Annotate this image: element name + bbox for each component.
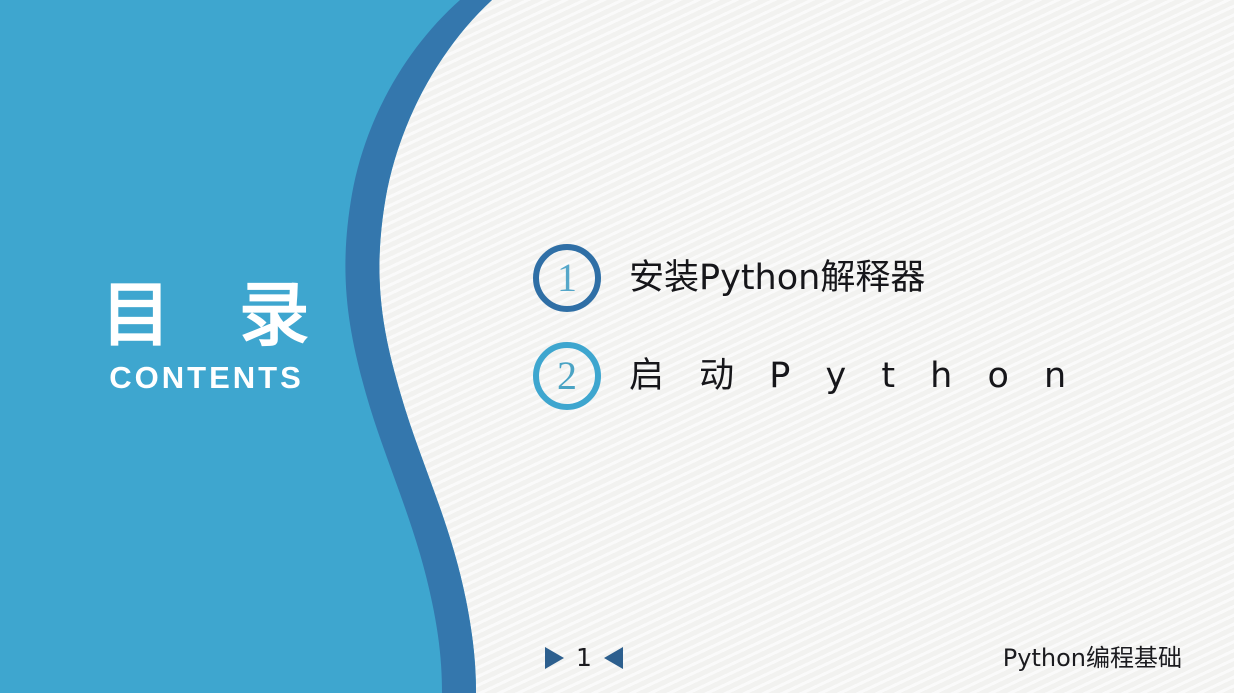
list-item[interactable]: 2 启 动 P y t h o n — [533, 338, 1078, 414]
footer-brand-text: Python编程基础 — [1003, 645, 1182, 671]
list-item-label: 启 动 P y t h o n — [629, 356, 1078, 396]
triangle-left-icon[interactable] — [604, 647, 623, 669]
page-title-en: CONTENTS — [0, 361, 410, 395]
page-title-cn: 目 录 — [0, 275, 410, 355]
item-number-badge: 1 — [533, 244, 601, 312]
presentation-slide: 目 录 CONTENTS 1 安装Python解释器 2 启 动 P y t h… — [0, 0, 1234, 693]
triangle-right-icon[interactable] — [545, 647, 564, 669]
list-item[interactable]: 1 安装Python解释器 — [533, 240, 1078, 316]
left-title-block: 目 录 CONTENTS — [0, 275, 410, 395]
page-number: 1 — [576, 645, 592, 670]
item-number-badge: 2 — [533, 342, 601, 410]
list-item-label: 安装Python解释器 — [629, 258, 925, 298]
page-navigation[interactable]: 1 — [545, 645, 623, 670]
contents-list: 1 安装Python解释器 2 启 动 P y t h o n — [533, 240, 1078, 436]
